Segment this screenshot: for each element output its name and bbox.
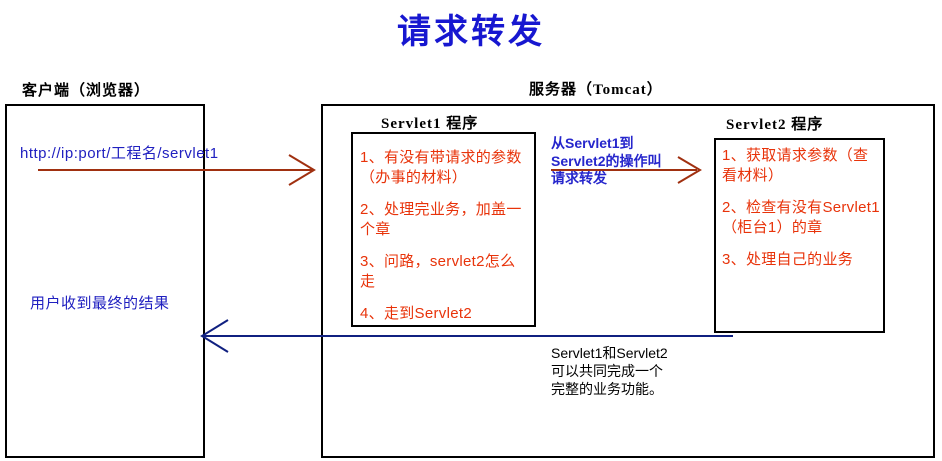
servlet1-box-label: Servlet1 程序 bbox=[381, 112, 478, 133]
servlet2-step-1: 1、获取请求参数（查看材料） bbox=[722, 146, 880, 185]
servlet2-box-label: Servlet2 程序 bbox=[726, 113, 823, 134]
servlet2-step-3: 3、处理自己的业务 bbox=[722, 250, 880, 270]
forward-note: 从Servlet1到Servlet2的操作叫请求转发 bbox=[551, 135, 671, 188]
client-box-label: 客户端（浏览器） bbox=[22, 79, 150, 100]
servlet1-step-2: 2、处理完业务，加盖一个章 bbox=[360, 200, 528, 239]
servlet1-step-3: 3、问路，servlet2怎么走 bbox=[360, 252, 528, 291]
page-title: 请求转发 bbox=[0, 4, 942, 53]
client-request-url: http://ip:port/工程名/servlet1 bbox=[20, 142, 219, 163]
client-result-label: 用户收到最终的结果 bbox=[30, 292, 170, 313]
server-box-label: 服务器（Tomcat） bbox=[529, 78, 663, 99]
servlet1-steps: 1、有没有带请求的参数（办事的材料） 2、处理完业务，加盖一个章 3、问路，se… bbox=[360, 148, 528, 337]
diagram-canvas: 请求转发 客户端（浏览器） 服务器（Tomcat） Servlet1 程序 1、… bbox=[0, 0, 942, 461]
servlet2-steps: 1、获取请求参数（查看材料） 2、检查有没有Servlet1（柜台1）的章 3、… bbox=[722, 146, 880, 283]
cooperation-note: Servlet1和Servlet2可以共同完成一个完整的业务功能。 bbox=[551, 344, 669, 399]
servlet1-step-1: 1、有没有带请求的参数（办事的材料） bbox=[360, 148, 528, 187]
servlet1-step-4: 4、走到Servlet2 bbox=[360, 304, 528, 324]
servlet2-step-2: 2、检查有没有Servlet1（柜台1）的章 bbox=[722, 198, 880, 237]
